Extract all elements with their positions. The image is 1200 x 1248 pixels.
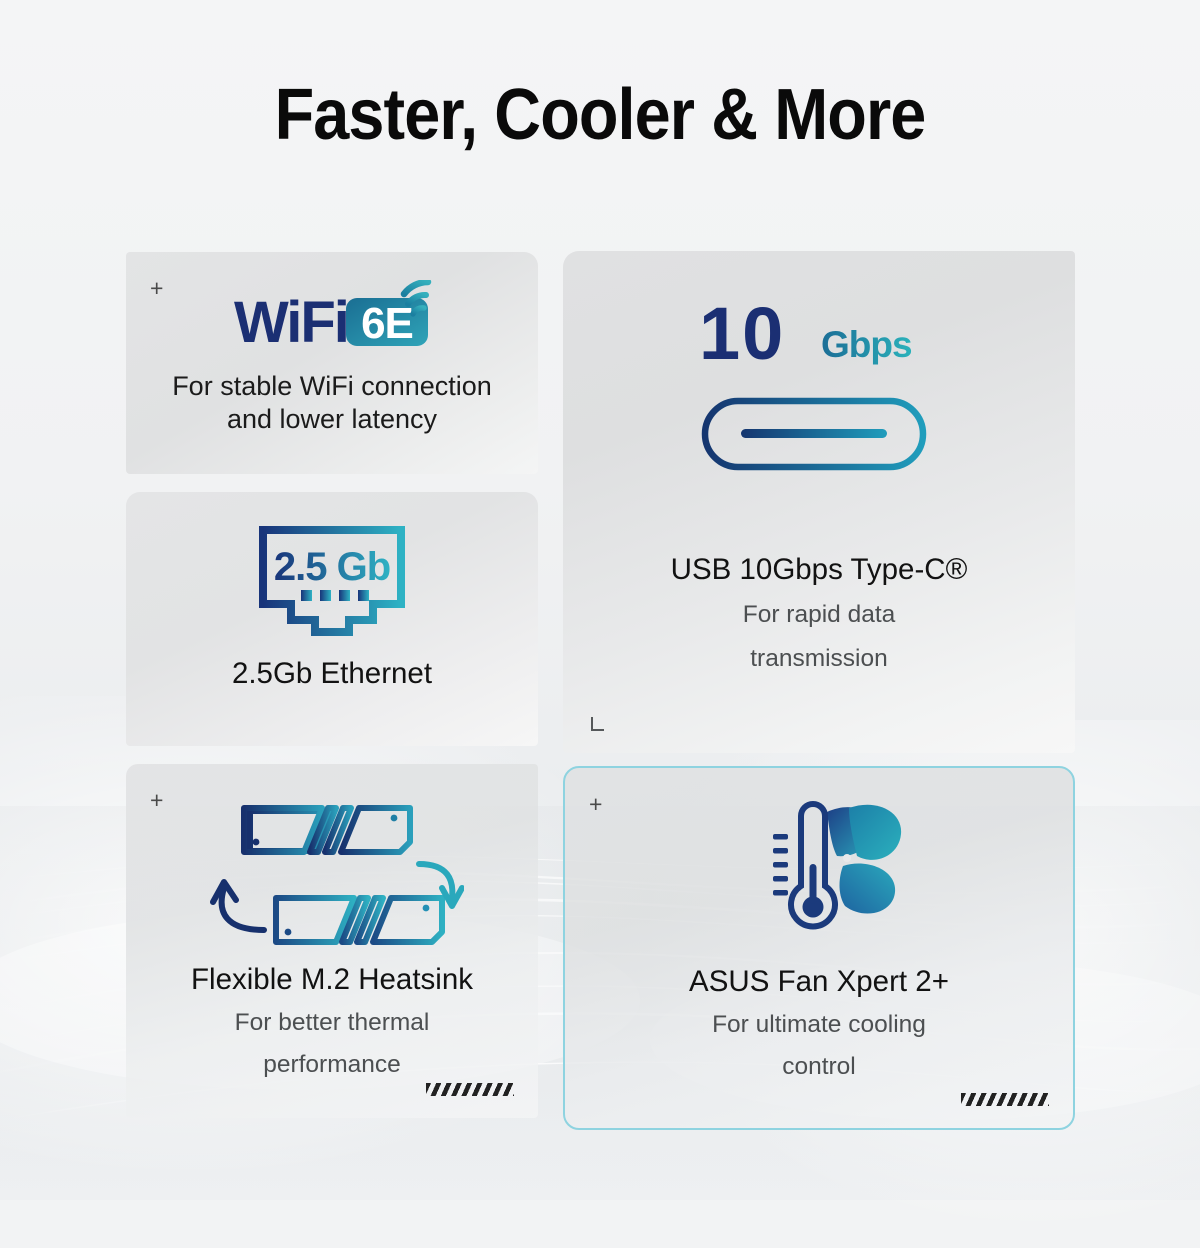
heatsink-caption: Flexible M.2 Heatsink For better thermal… [126,962,538,1080]
hatch-stripe-mark [426,1083,514,1096]
fan-caption-line1: For ultimate cooling [565,1009,1073,1040]
card-asus-fan-xpert[interactable]: + [563,766,1075,1130]
heatsink-caption-line2: performance [126,1049,538,1080]
card-wifi-6e[interactable]: + WiFi 6E For stable WiFi connection [126,252,538,474]
svg-text:Gbps: Gbps [821,324,912,365]
ethernet-caption: 2.5Gb Ethernet [126,656,538,691]
fan-title: ASUS Fan Xpert 2+ [565,964,1073,999]
svg-text:2.5 Gb: 2.5 Gb [274,545,390,589]
fan-caption-line2: control [565,1051,1073,1082]
usb-caption-line2: transmission [563,643,1075,674]
wifi-caption: For stable WiFi connection and lower lat… [126,370,538,436]
plus-icon: + [589,798,602,810]
heatsink-title: Flexible M.2 Heatsink [126,962,538,997]
svg-text:6E: 6E [361,299,413,348]
fan-caption: ASUS Fan Xpert 2+ For ultimate cooling c… [565,964,1073,1082]
page-title: Faster, Cooler & More [60,74,1140,156]
wifi-caption-line1: For stable WiFi connection [126,370,538,403]
wifi-caption-line2: and lower latency [126,403,538,436]
usb-title: USB 10Gbps Type-C® [563,552,1075,587]
card-usb-type-c[interactable]: 10 Gbps USB 10Gbps Type-C® For rapid dat… [563,251,1075,753]
card-ethernet[interactable]: 2.5 Gb 2.5Gb Ethernet [126,492,538,746]
ethernet-title: 2.5Gb Ethernet [126,656,538,691]
wifi-6e-logo-icon: WiFi 6E [232,280,447,363]
fan-thermometer-icon [731,800,911,945]
hatch-stripe-mark [961,1093,1049,1106]
svg-text:WiFi: WiFi [234,290,348,355]
ethernet-port-icon: 2.5 Gb [257,524,407,645]
usb-speed-icon-group: 10 Gbps [671,293,971,498]
card-m2-heatsink[interactable]: + [126,764,538,1118]
usb-caption: USB 10Gbps Type-C® For rapid data transm… [563,552,1075,674]
heatsink-caption-line1: For better thermal [126,1007,538,1038]
usb-caption-line1: For rapid data [563,599,1075,630]
plus-icon: + [150,794,163,806]
svg-text:10: 10 [699,293,785,375]
plus-icon: + [150,282,163,294]
corner-bracket-mark [591,717,604,731]
m2-heatsink-icon [204,802,464,957]
